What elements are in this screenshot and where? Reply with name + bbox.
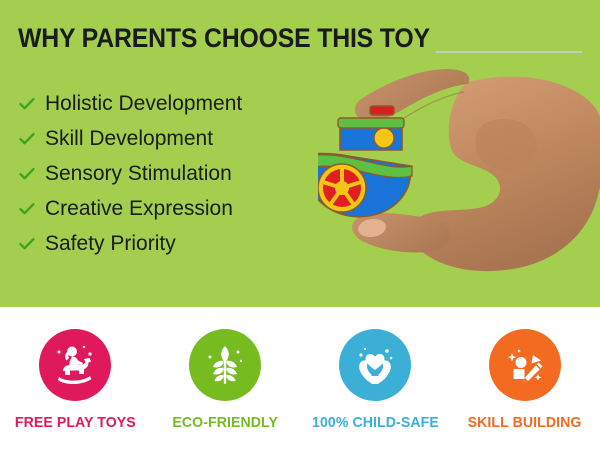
badge-label: SKILL BUILDING	[468, 414, 582, 431]
badge-circle	[39, 329, 111, 401]
benefit-label: Creative Expression	[45, 197, 233, 221]
leaf-icon	[200, 340, 250, 390]
boat-chimney	[370, 106, 394, 115]
list-item: Skill Development	[18, 121, 242, 156]
trust-badges-row: FREE PLAY TOYS	[0, 307, 600, 454]
badge-skill-building[interactable]: SKILL BUILDING	[451, 329, 599, 431]
badge-label: FREE PLAY TOYS	[15, 414, 136, 431]
wooden-boat-toy	[318, 106, 412, 217]
benefit-label: Sensory Stimulation	[45, 162, 232, 186]
badge-label: 100% CHILD-SAFE	[312, 414, 439, 431]
boat-flower-wheel	[318, 164, 366, 212]
hand-holding-wooden-boat-toy	[318, 62, 600, 307]
badge-label: ECO-FRIENDLY	[172, 414, 278, 431]
page-title: WHY PARENTS CHOOSE THIS TOY	[18, 22, 435, 54]
list-item: Sensory Stimulation	[18, 156, 242, 191]
badge-child-safe[interactable]: 100% CHILD-SAFE	[301, 329, 449, 431]
benefit-label: Skill Development	[45, 127, 213, 151]
list-item: Holistic Development	[18, 86, 242, 121]
check-icon	[18, 130, 36, 148]
badge-eco-friendly[interactable]: ECO-FRIENDLY	[151, 329, 299, 431]
benefits-list: Holistic Development Skill Development S…	[18, 86, 242, 261]
hero-panel: WHY PARENTS CHOOSE THIS TOY Holistic Dev…	[0, 0, 600, 307]
check-icon	[18, 165, 36, 183]
badge-circle	[339, 329, 411, 401]
check-icon	[18, 235, 36, 253]
knuckle-shape	[476, 119, 537, 170]
pencil-shapes-icon	[500, 340, 550, 390]
list-item: Safety Priority	[18, 226, 242, 261]
boat-upper-stripe	[338, 118, 404, 128]
boat-porthole	[374, 128, 394, 148]
badge-free-play-toys[interactable]: FREE PLAY TOYS	[1, 329, 149, 431]
hands-heart-icon	[350, 340, 400, 390]
list-item: Creative Expression	[18, 191, 242, 226]
rocking-horse-icon	[50, 340, 100, 390]
benefit-label: Holistic Development	[45, 92, 242, 116]
product-benefits-banner: WHY PARENTS CHOOSE THIS TOY Holistic Dev…	[0, 0, 600, 454]
benefit-label: Safety Priority	[45, 232, 176, 256]
badge-circle	[489, 329, 561, 401]
check-icon	[18, 95, 36, 113]
badge-circle	[189, 329, 261, 401]
check-icon	[18, 200, 36, 218]
